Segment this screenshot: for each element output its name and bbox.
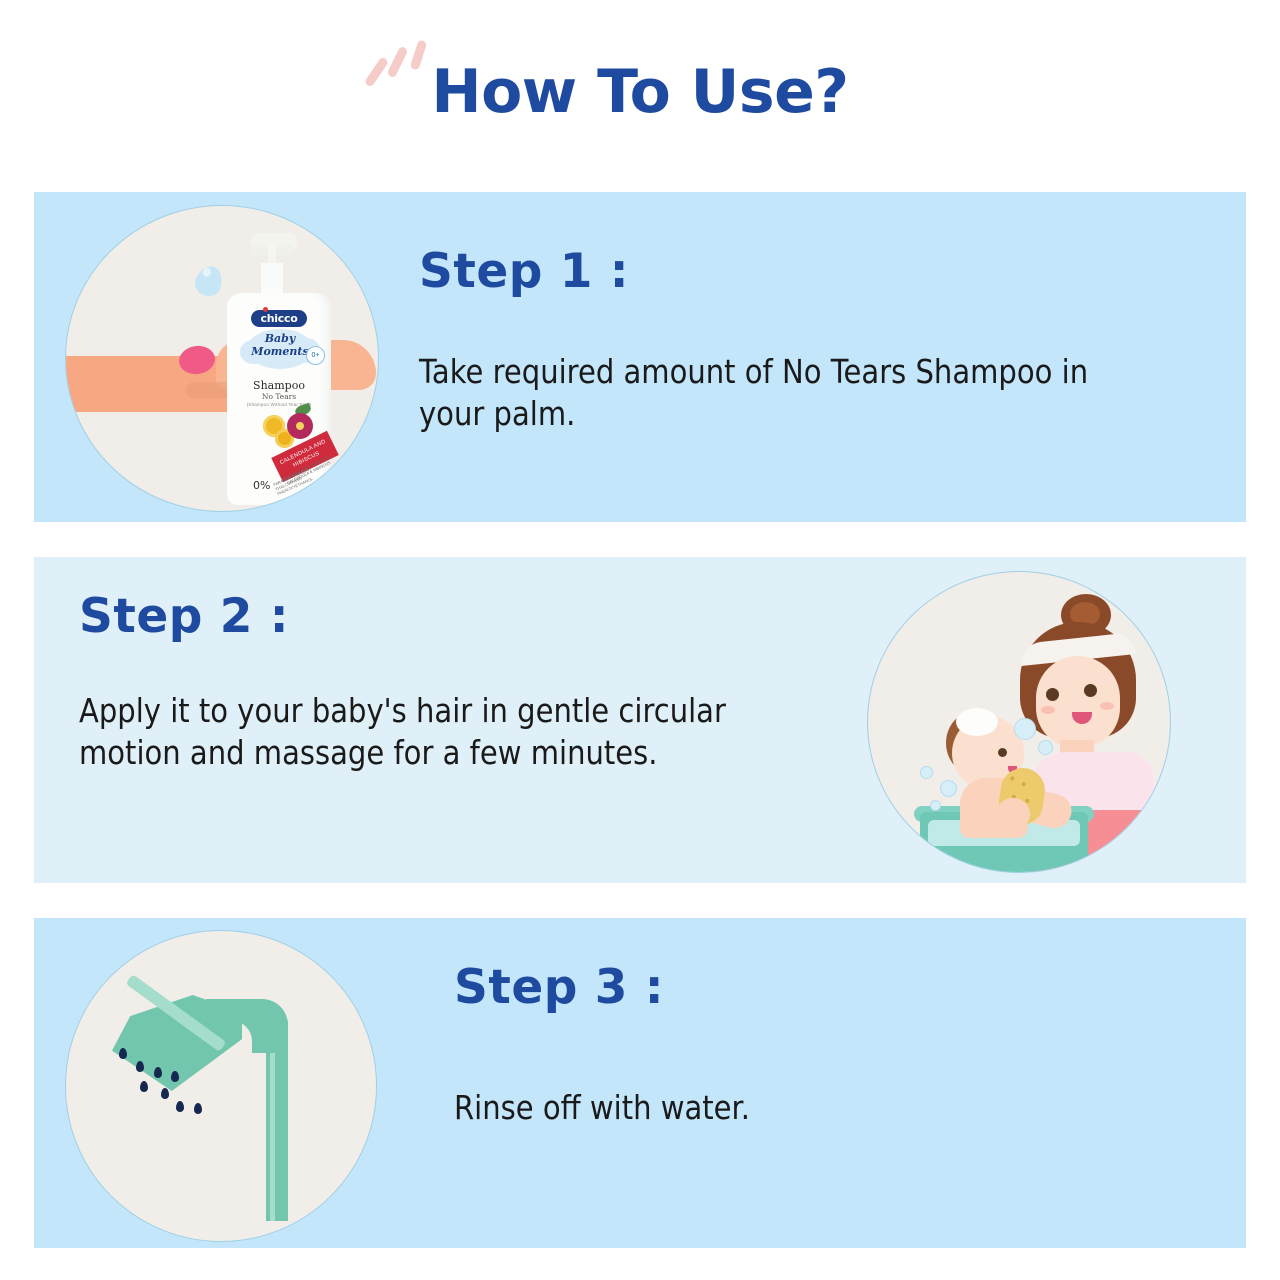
step-3-heading: Step 3 : [454, 960, 1214, 1015]
water-drop-icon [161, 1088, 169, 1099]
bubble-icon [940, 780, 957, 797]
product-line: Baby Moments [247, 332, 313, 358]
step-2-body: Apply it to your baby's hair in gentle c… [79, 690, 792, 774]
water-drop-icon [136, 1061, 144, 1072]
water-drop-icon [119, 1048, 127, 1059]
page-header: How To Use? [0, 0, 1280, 178]
step-panel-2: Step 2 : Apply it to your baby's hair in… [34, 557, 1246, 883]
brand-name: chicco [261, 312, 298, 325]
brand-logo: chicco [251, 310, 307, 327]
baby-eye [998, 748, 1007, 757]
age-badge: 0+ [306, 346, 325, 365]
page-title: How To Use? [0, 62, 1280, 122]
water-drop-icon [154, 1067, 162, 1078]
shampoo-foam-icon [956, 708, 998, 736]
illustration-hand-with-bottle: chicco Baby Moments 0+ Shampoo No Tears … [65, 205, 379, 512]
step-panel-3: Step 3 : Rinse off with water. [34, 918, 1246, 1248]
step-panel-1: chicco Baby Moments 0+ Shampoo No Tears … [34, 192, 1246, 522]
step-3-body: Rinse off with water. [454, 1087, 1123, 1129]
step-1-body: Take required amount of No Tears Shampoo… [419, 351, 1123, 435]
mother-eye [1046, 688, 1059, 701]
water-drop-icon [66, 931, 74, 942]
illustration-shower-head [65, 930, 377, 1242]
illustration-mother-bathing-baby [867, 571, 1171, 873]
water-drop-icon [171, 1071, 179, 1082]
logo-dot-icon [263, 307, 268, 312]
mother-blush [1100, 702, 1114, 710]
bubble-icon [920, 766, 933, 779]
step-2-heading: Step 2 : [79, 589, 889, 644]
bubble-icon [930, 800, 941, 811]
step-3-text-block: Step 3 : Rinse off with water. [454, 960, 1214, 1129]
free-from-value: 0% [253, 479, 270, 492]
bottle-neck [261, 263, 283, 297]
product-claim: No Tears [237, 392, 321, 401]
mother-hand [996, 798, 1030, 830]
hibiscus-flower-icon [287, 413, 313, 439]
shampoo-droplet-icon [192, 262, 227, 299]
step-1-text-block: Step 1 : Take required amount of No Tear… [419, 244, 1219, 435]
shampoo-bottle: chicco Baby Moments 0+ Shampoo No Tears … [227, 233, 331, 505]
water-drop-icon [140, 1081, 148, 1092]
step-2-text-block: Step 2 : Apply it to your baby's hair in… [79, 589, 889, 774]
water-drop-icon [176, 1101, 184, 1112]
product-name: Shampoo [237, 379, 321, 392]
bubble-icon [1014, 718, 1036, 740]
step-1-heading: Step 1 : [419, 244, 1219, 299]
water-drop-icon [194, 1103, 202, 1114]
bubble-icon [1038, 740, 1053, 755]
mother-blush [1041, 706, 1055, 714]
mother-eye [1084, 684, 1097, 697]
